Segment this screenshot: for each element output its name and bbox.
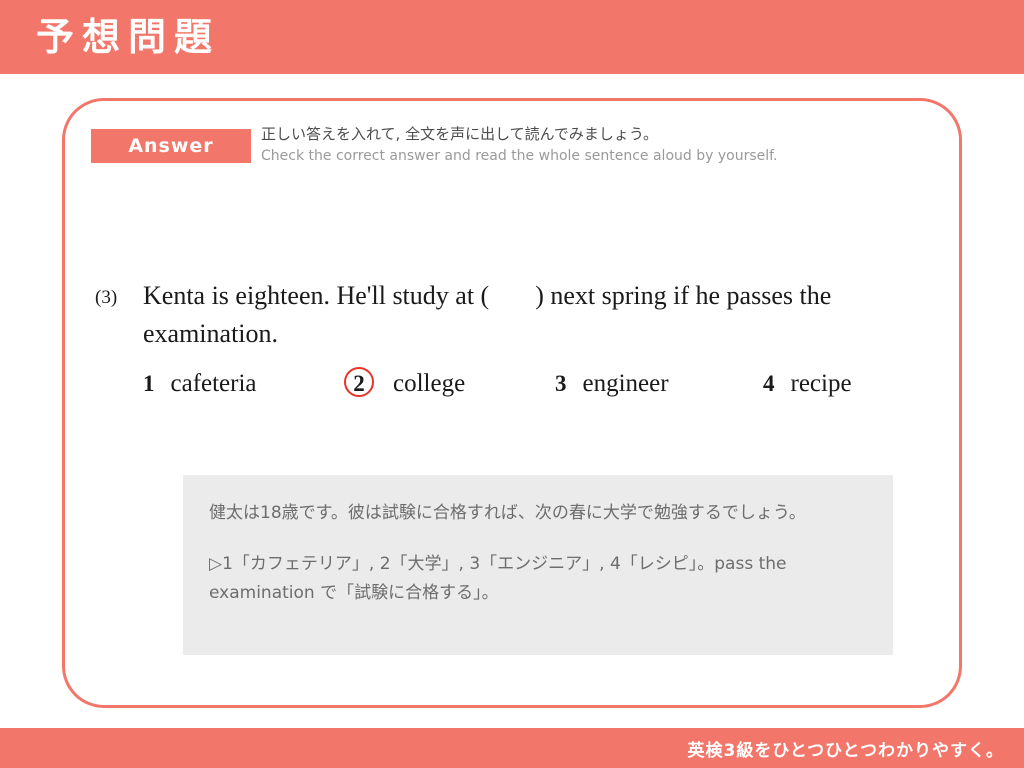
- question-text-before-gap: Kenta is eighteen. He'll study at (: [143, 281, 489, 310]
- choice-label-1: cafeteria: [155, 361, 257, 407]
- page-footer: 英検3級をひとつひとつわかりやすく。: [0, 728, 1024, 768]
- answer-badge-label: Answer: [91, 129, 251, 163]
- choice-option-2[interactable]: 2college: [341, 361, 465, 407]
- question-sentence: Kenta is eighteen. He'll study at () nex…: [143, 277, 933, 353]
- choice-list: 1cafeteria 2college 3engineer 4recipe: [143, 361, 943, 407]
- choice-number-2-selected: 2: [341, 361, 377, 407]
- choice-label-2: college: [377, 361, 465, 407]
- instruction-japanese: 正しい答えを入れて, 全文を声に出して読んでみましょう。: [261, 123, 658, 144]
- choice-label-3: engineer: [567, 361, 669, 407]
- choice-number-1: 1: [143, 361, 155, 407]
- choice-option-3[interactable]: 3engineer: [555, 361, 669, 407]
- footer-series-title: 英検3級をひとつひとつわかりやすく。: [688, 736, 1004, 761]
- choice-number-3: 3: [555, 361, 567, 407]
- explanation-box: 健太は18歳です。彼は試験に合格すれば、次の春に大学で勉強するでしょう。 ▷1「…: [183, 475, 893, 655]
- choice-number-4: 4: [763, 361, 775, 407]
- answer-card: Answer 正しい答えを入れて, 全文を声に出して読んでみましょう。 Chec…: [62, 98, 962, 708]
- explanation-notes: ▷1「カフェテリア」, 2「大学」, 3「エンジニア」, 4「レシピ」。pass…: [209, 550, 867, 608]
- choice-option-1[interactable]: 1cafeteria: [143, 361, 257, 407]
- page-header: 予想問題: [0, 0, 1024, 74]
- question-number: (3): [95, 287, 117, 309]
- choice-option-4[interactable]: 4recipe: [763, 361, 852, 407]
- instruction-english: Check the correct answer and read the wh…: [261, 148, 777, 164]
- explanation-translation: 健太は18歳です。彼は試験に合格すれば、次の春に大学で勉強するでしょう。: [209, 499, 867, 528]
- answer-badge: Answer: [91, 129, 251, 163]
- choice-label-4: recipe: [775, 361, 852, 407]
- page-title: 予想問題: [36, 11, 220, 63]
